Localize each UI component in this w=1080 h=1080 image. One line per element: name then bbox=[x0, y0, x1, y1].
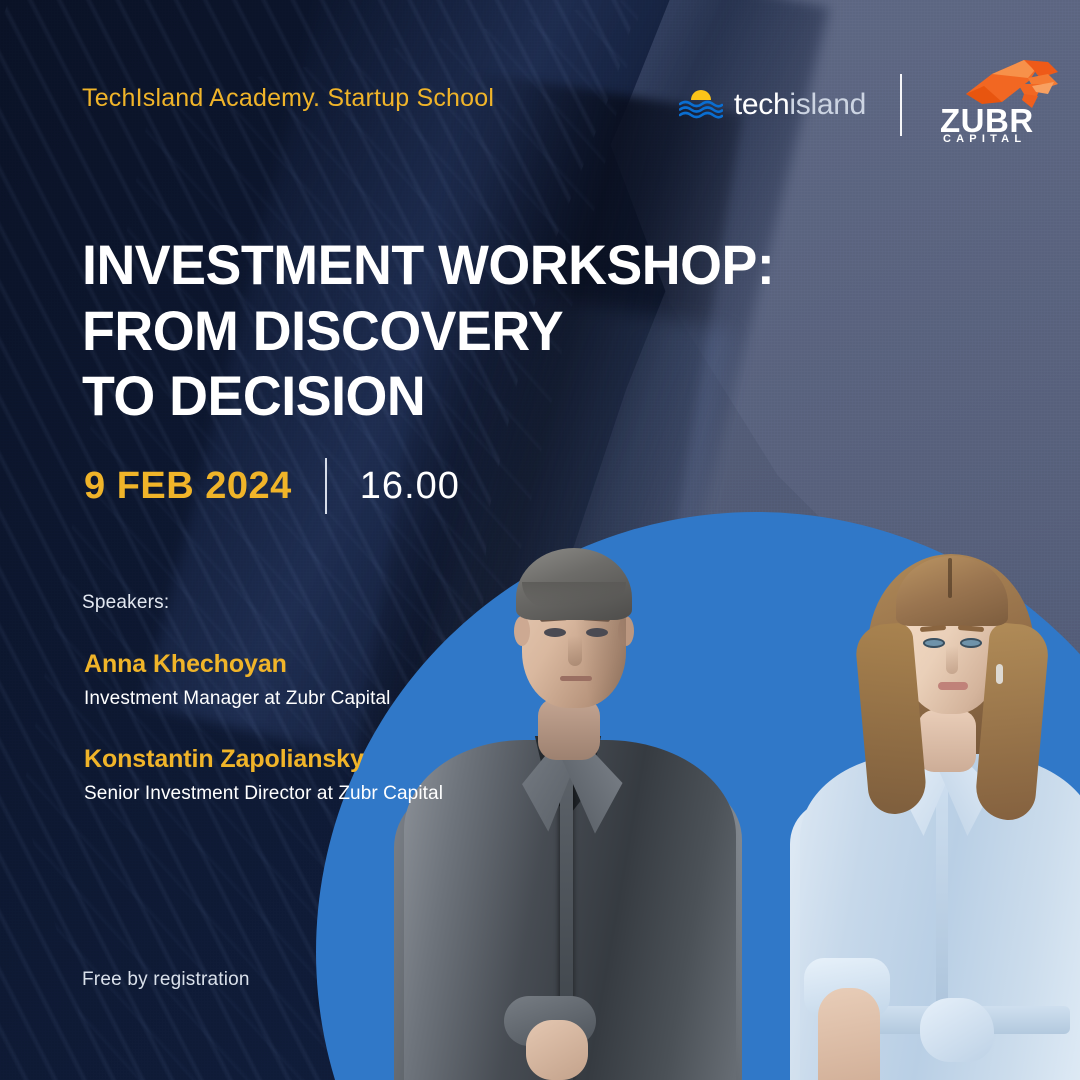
female-nose bbox=[946, 646, 958, 674]
program-eyebrow: TechIsland Academy. Startup School bbox=[82, 84, 494, 113]
techisland-word-tech: tech bbox=[734, 88, 790, 121]
event-date: 9 FEB 2024 bbox=[84, 465, 292, 508]
speaker-role: Senior Investment Director at Zubr Capit… bbox=[84, 783, 443, 805]
techisland-word-island: island bbox=[789, 88, 866, 121]
event-datetime: 9 FEB 2024 16.00 bbox=[84, 458, 460, 514]
headline-line-3: TO DECISION bbox=[82, 363, 774, 429]
logo-divider bbox=[900, 74, 902, 136]
logo-lockup: techisland ZUBR CAPITAL bbox=[679, 62, 1056, 148]
registration-note: Free by registration bbox=[82, 969, 250, 991]
speakers-label: Speakers: bbox=[82, 592, 169, 614]
speaker-name: Anna Khechoyan bbox=[84, 650, 391, 679]
female-neck bbox=[918, 710, 976, 772]
female-eye-left bbox=[923, 638, 945, 648]
speaker-role: Investment Manager at Zubr Capital bbox=[84, 688, 391, 710]
female-earring bbox=[996, 664, 1003, 684]
techisland-wordmark: techisland bbox=[734, 90, 866, 120]
speaker-entry-1: Anna Khechoyan Investment Manager at Zub… bbox=[84, 650, 391, 710]
male-mouth bbox=[560, 676, 592, 681]
female-hair-part bbox=[948, 558, 952, 598]
page-title: INVESTMENT WORKSHOP: FROM DISCOVERY TO D… bbox=[82, 232, 774, 429]
speaker-entry-2: Konstantin Zapoliansky Senior Investment… bbox=[84, 745, 443, 805]
event-poster: TechIsland Academy. Startup School techi… bbox=[0, 0, 1080, 1080]
male-eye-left bbox=[544, 628, 566, 637]
sunrise-over-waves-icon bbox=[679, 87, 723, 123]
datetime-divider bbox=[325, 458, 327, 514]
techisland-logo[interactable]: techisland bbox=[679, 87, 866, 123]
female-mouth bbox=[938, 682, 968, 690]
event-time: 16.00 bbox=[360, 465, 460, 508]
zubr-subword-capital: CAPITAL bbox=[943, 134, 1026, 145]
female-belt-knot bbox=[920, 998, 994, 1062]
female-shirt-placket bbox=[936, 778, 948, 1008]
speaker-photos bbox=[0, 0, 1080, 1080]
headline-line-2: FROM DISCOVERY bbox=[82, 298, 774, 364]
male-eye-right bbox=[586, 628, 608, 637]
male-hand bbox=[526, 1020, 588, 1080]
female-forearm-left bbox=[818, 988, 880, 1080]
headline-line-1: INVESTMENT WORKSHOP: bbox=[82, 232, 774, 298]
speaker-name: Konstantin Zapoliansky bbox=[84, 745, 443, 774]
zubr-capital-logo[interactable]: ZUBR CAPITAL bbox=[936, 62, 1056, 148]
speaker-photo-female bbox=[800, 528, 1080, 1080]
female-eye-right bbox=[960, 638, 982, 648]
male-nose bbox=[568, 636, 582, 666]
